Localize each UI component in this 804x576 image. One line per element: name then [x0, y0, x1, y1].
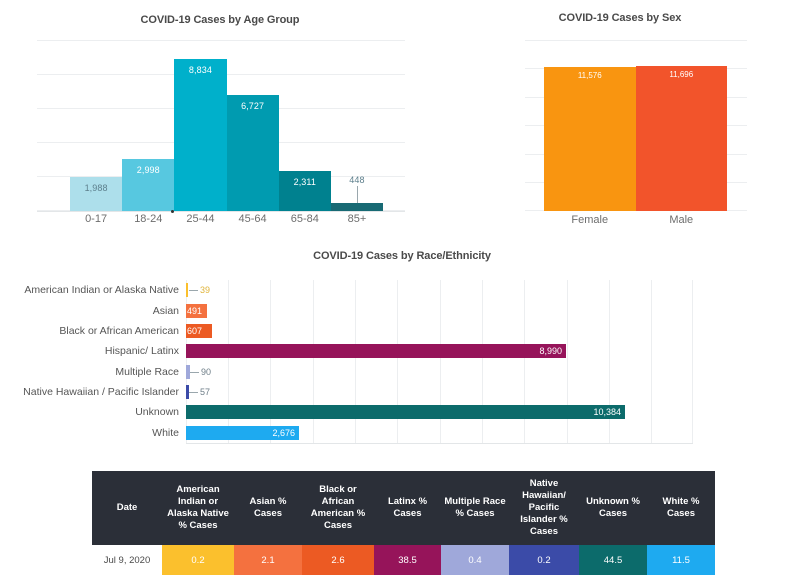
- table-header-unknown[interactable]: Unknown % Cases: [579, 471, 647, 545]
- table-cell-asian: 2.1: [234, 545, 302, 575]
- sex-bar-value: 11,696: [636, 70, 728, 79]
- sex-axis-label: Female: [544, 214, 636, 226]
- race-bar-label: Asian: [153, 305, 179, 317]
- table-header-multiple-race[interactable]: Multiple Race % Cases: [441, 471, 509, 545]
- table-cell-native-hawaiian: 0.2: [509, 545, 579, 575]
- table-cell-american-indian: 0.2: [162, 545, 234, 575]
- age-chart-plot: 1,988 2,998 8,834 6,727 2,311 448: [37, 40, 405, 212]
- race-ethnicity-chart: COVID-19 Cases by Race/Ethnicity 39 Amer…: [0, 240, 804, 462]
- race-bar-native-hawaiian[interactable]: 57 Native Hawaiian / Pacific Islander: [186, 382, 693, 402]
- age-bar-value: 8,834: [174, 65, 226, 75]
- age-axis-label: 25-44: [174, 213, 226, 225]
- race-bar-hispanic-latinx[interactable]: 8,990 Hispanic/ Latinx: [186, 341, 693, 361]
- race-bar-value: 607: [187, 326, 202, 336]
- race-bar-label: Native Hawaiian / Pacific Islander: [23, 386, 179, 398]
- age-bar-25-44[interactable]: 8,834: [174, 40, 226, 211]
- race-bar-value: 39: [200, 285, 210, 295]
- age-bar-value: 2,998: [122, 165, 174, 175]
- age-axis-label: 0-17: [70, 213, 122, 225]
- race-bar-american-indian[interactable]: 39 American Indian or Alaska Native: [186, 280, 693, 300]
- race-bar-value: 2,676: [272, 428, 295, 438]
- sex-bar-female[interactable]: 11,576: [544, 40, 636, 211]
- table-header-american-indian[interactable]: American Indian or Alaska Native % Cases: [162, 471, 234, 545]
- table-header-date[interactable]: Date: [92, 471, 162, 545]
- table-header-latinx[interactable]: Latinx % Cases: [374, 471, 441, 545]
- age-bar-65-84[interactable]: 2,311: [279, 40, 331, 211]
- sex-chart: COVID-19 Cases by Sex 11,576 11,696: [470, 0, 804, 240]
- age-chart-title: COVID-19 Cases by Age Group: [0, 14, 440, 26]
- race-bar-value: 90: [201, 367, 211, 377]
- table-header-black-african-american[interactable]: Black or African American % Cases: [302, 471, 374, 545]
- race-bar-asian[interactable]: 491 Asian: [186, 300, 693, 320]
- age-bar-value: 2,311: [279, 177, 331, 187]
- age-chart-baseline: [37, 211, 405, 212]
- race-bar-label: Multiple Race: [115, 366, 179, 378]
- table-header-native-hawaiian[interactable]: Native Hawaiian/ Pacific Islander % Case…: [509, 471, 579, 545]
- age-axis-label: 65-84: [279, 213, 331, 225]
- race-bar-white[interactable]: 2,676 White: [186, 423, 693, 443]
- age-axis-label: 18-24: [122, 213, 174, 225]
- table-cell-multiple-race: 0.4: [441, 545, 509, 575]
- age-bar-45-64[interactable]: 6,727: [227, 40, 279, 211]
- table-cell-unknown: 44.5: [579, 545, 647, 575]
- percent-cases-table: Date American Indian or Alaska Native % …: [92, 471, 715, 575]
- race-bar-value: 8,990: [539, 346, 562, 356]
- race-chart-baseline: [186, 443, 693, 444]
- age-bar-85-plus[interactable]: 448: [331, 40, 383, 211]
- age-chart-x-axis: 0-17 18-24 25-44 45-64 65-84 85+: [70, 213, 383, 225]
- sex-chart-plot: 11,576 11,696: [525, 40, 747, 212]
- race-bar-label: Black or African American: [59, 325, 179, 337]
- race-bar-label: White: [152, 427, 179, 439]
- race-bar-black-african-american[interactable]: 607 Black or African American: [186, 321, 693, 341]
- table-row[interactable]: Jul 9, 2020 0.2 2.1 2.6 38.5 0.4 0.2 44.…: [92, 545, 715, 575]
- age-bar-18-24[interactable]: 2,998: [122, 40, 174, 211]
- table-cell-latinx: 38.5: [374, 545, 441, 575]
- race-chart-plot: 39 American Indian or Alaska Native 491 …: [186, 280, 693, 443]
- table-header-white[interactable]: White % Cases: [647, 471, 715, 545]
- age-bar-value: 448: [331, 175, 383, 185]
- age-bar-value: 1,988: [70, 183, 122, 193]
- age-chart-bars: 1,988 2,998 8,834 6,727 2,311 448: [70, 40, 383, 211]
- sex-axis-label: Male: [636, 214, 728, 226]
- race-bar-value: 57: [200, 387, 210, 397]
- race-bar-label: Hispanic/ Latinx: [105, 345, 179, 357]
- age-group-chart: COVID-19 Cases by Age Group 1,988 2,998 …: [0, 0, 470, 240]
- race-bar-value: 491: [187, 306, 202, 316]
- table-header-asian[interactable]: Asian % Cases: [234, 471, 302, 545]
- sex-chart-x-axis: Female Male: [544, 214, 727, 226]
- table-cell-white: 11.5: [647, 545, 715, 575]
- table-cell-date: Jul 9, 2020: [92, 545, 162, 575]
- race-bar-value: 10,384: [593, 407, 621, 417]
- race-percent-table: Date American Indian or Alaska Native % …: [92, 471, 715, 575]
- age-axis-label: 45-64: [227, 213, 279, 225]
- table-header-row: Date American Indian or Alaska Native % …: [92, 471, 715, 545]
- race-bar-label: American Indian or Alaska Native: [24, 284, 179, 296]
- sex-chart-bars: 11,576 11,696: [544, 40, 727, 211]
- race-bar-unknown[interactable]: 10,384 Unknown: [186, 402, 693, 422]
- race-chart-title: COVID-19 Cases by Race/Ethnicity: [0, 250, 804, 262]
- race-chart-bars: 39 American Indian or Alaska Native 491 …: [186, 280, 693, 443]
- age-bar-value: 6,727: [227, 101, 279, 111]
- age-axis-label: 85+: [331, 213, 383, 225]
- race-bar-label: Unknown: [135, 406, 179, 418]
- sex-bar-value: 11,576: [544, 71, 636, 80]
- race-bar-multiple-race[interactable]: 90 Multiple Race: [186, 362, 693, 382]
- age-bar-0-17[interactable]: 1,988: [70, 40, 122, 211]
- table-cell-black-african-american: 2.6: [302, 545, 374, 575]
- sex-bar-male[interactable]: 11,696: [636, 40, 728, 211]
- sex-chart-title: COVID-19 Cases by Sex: [470, 12, 770, 24]
